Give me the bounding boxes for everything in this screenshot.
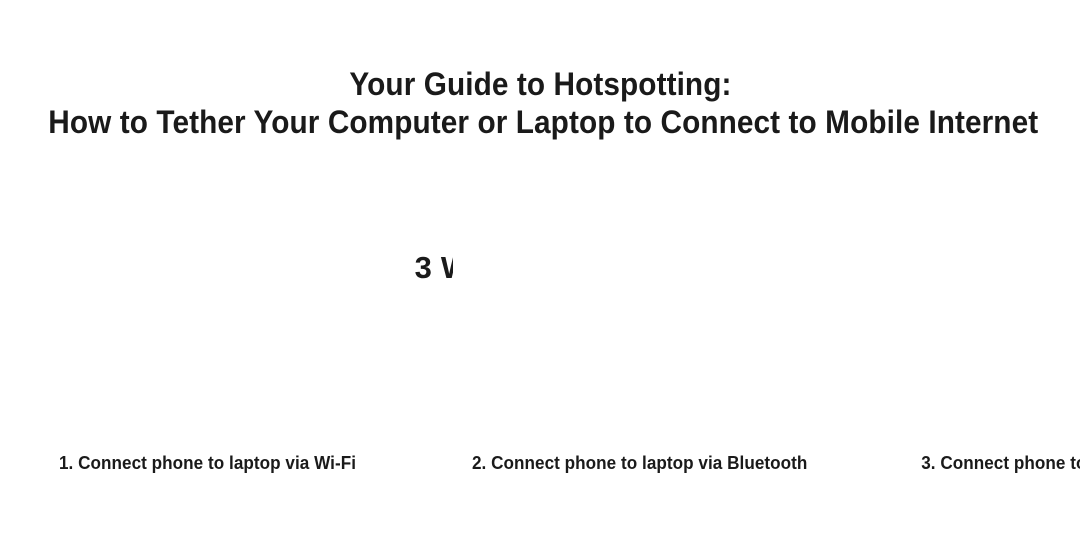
page-title-line-1: Your Guide to Hotspotting: [39,65,1042,103]
figure-row: 1. Connect phone to laptop via Wi-Fi 2. … [0,272,1080,520]
figure-wifi-image [40,256,373,452]
page-title-line-2: How to Tether Your Computer or Laptop to… [44,103,1042,141]
page-title: Your Guide to Hotspotting: How to Tether… [38,65,1042,141]
figure-cable-caption: 3. Connect phone to laptop via cable [906,452,1080,504]
figure-wifi-caption: 1. Connect phone to laptop via Wi-Fi [40,452,356,504]
figure-bluetooth-caption: 2. Connect phone to laptop via Bluetooth [453,452,807,504]
figure-bluetooth: 2. Connect phone to laptop via Bluetooth [453,256,826,504]
figure-cable-image [906,256,1080,452]
figure-cable: 3. Connect phone to laptop via cable [906,256,1080,504]
figure-wifi: 1. Connect phone to laptop via Wi-Fi [40,256,373,504]
figure-bluetooth-image [453,256,826,452]
article-page: Your Guide to Hotspotting: How to Tether… [0,0,1080,552]
